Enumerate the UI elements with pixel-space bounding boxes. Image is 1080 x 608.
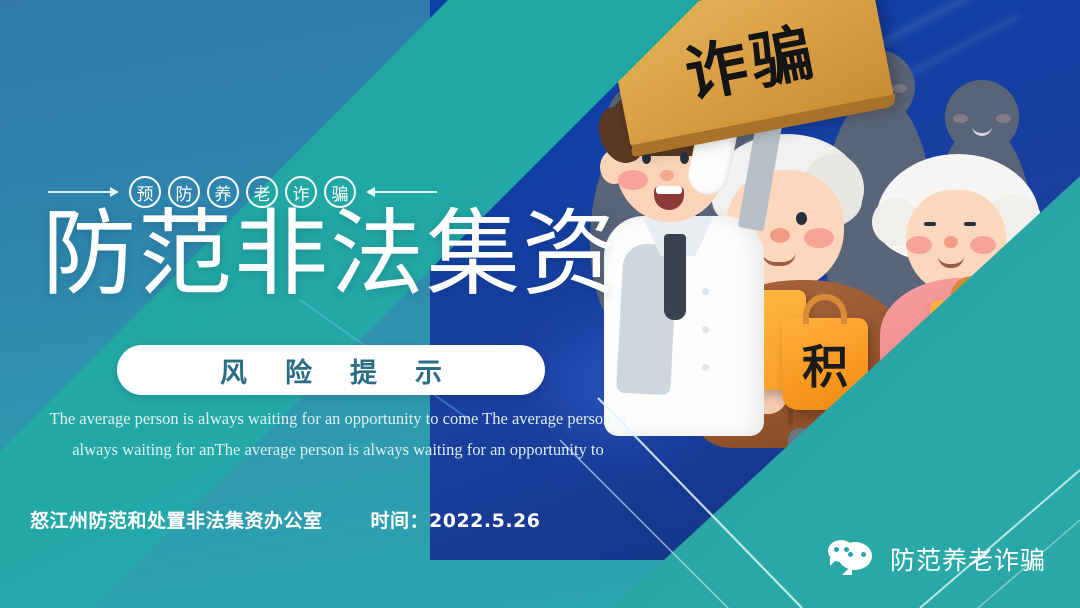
silhouette-cheek — [953, 114, 968, 123]
poster-text-content: 预 防 养 老 诈 骗 防范非法集资 风险提示 The average pers… — [0, 0, 660, 608]
page-title: 防范非法集资 — [42, 208, 662, 302]
shirt-button — [702, 288, 709, 295]
silhouette-cheek — [892, 84, 907, 93]
eye — [964, 222, 976, 226]
arrow-tip — [110, 187, 119, 197]
wechat-dot — [834, 547, 839, 552]
eye — [924, 222, 936, 226]
arrow-line — [375, 191, 437, 193]
wechat-bubble-small-tail — [830, 558, 838, 566]
shoe — [972, 462, 1000, 474]
eye — [680, 152, 689, 164]
leg — [976, 412, 998, 468]
nose — [944, 236, 958, 248]
wechat-dot — [844, 547, 849, 552]
wechat-dot — [848, 552, 853, 557]
silhouette-mouth — [972, 126, 992, 136]
savings-bag-xu: 蓄 — [930, 300, 1014, 388]
blush — [970, 236, 996, 254]
silhouette-head — [945, 80, 1019, 154]
shirt-button — [702, 364, 709, 371]
date-label: 时间：2022.5.26 — [371, 506, 541, 533]
wechat-icon — [828, 540, 878, 578]
leg — [940, 412, 962, 468]
wechat-account-name: 防范养老诈骗 — [890, 541, 1046, 577]
arrow-left-icon — [366, 187, 437, 197]
bag-character-xu: 蓄 — [930, 300, 1014, 388]
blush — [906, 236, 932, 254]
silhouette-cheek — [996, 114, 1011, 123]
arrow-right-icon — [48, 187, 119, 197]
shirt-button — [702, 326, 709, 333]
wechat-account-badge[interactable]: 防范养老诈骗 — [828, 540, 1046, 578]
footer-row: 怒江州防范和处置非法集资办公室 时间：2022.5.26 — [30, 506, 541, 533]
risk-warning-pill: 风险提示 — [117, 345, 545, 395]
necktie — [664, 234, 686, 320]
description-paragraph: The average person is always waiting for… — [42, 404, 634, 465]
risk-warning-label: 风险提示 — [182, 351, 480, 390]
nose — [660, 170, 674, 181]
organization-name: 怒江州防范和处置非法集资办公室 — [30, 506, 323, 533]
poster-canvas: 积 蓄 — [0, 0, 1080, 608]
shoe — [936, 462, 964, 474]
wechat-dot — [861, 552, 866, 557]
arrow-line — [48, 191, 110, 193]
arrow-tip — [366, 187, 375, 197]
